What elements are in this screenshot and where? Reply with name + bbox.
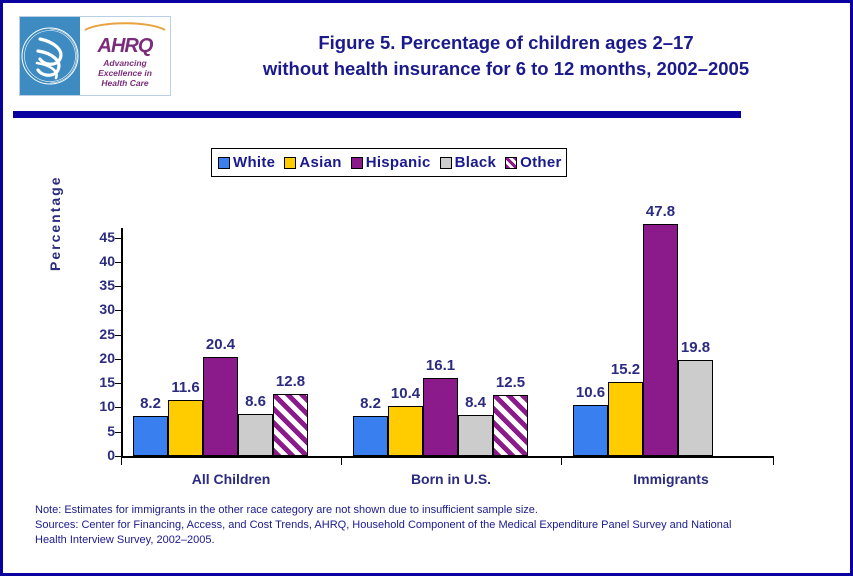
bar-asian-born-in-u-s[interactable] [388,406,423,456]
bar-black-immigrants[interactable] [678,360,713,456]
bar-series-container: 8.211.620.48.612.88.210.416.18.412.510.6… [121,228,773,456]
y-tick-label: 0 [75,447,115,463]
bar-value-label: 16.1 [414,357,467,374]
footnote-sources-line2: Health Interview Survey, 2002–2005. [35,533,825,548]
x-category-label-born-in-u-s: Born in U.S. [341,471,561,487]
y-tick-label: 5 [75,423,115,439]
bar-white-all-children[interactable] [133,416,168,456]
bar-white-immigrants[interactable] [573,405,608,456]
x-tick-mark [341,456,342,465]
chart-plot-area: Percentage 051015202530354045 8.211.620.… [3,3,853,579]
bar-black-all-children[interactable] [238,414,273,456]
figure-window: AHRQ Advancing Excellence in Health Care… [0,0,853,576]
x-axis-line [121,456,773,458]
footnote-note: Note: Estimates for immigrants in the ot… [35,503,825,518]
y-tick-label: 45 [75,229,115,245]
x-tick-mark [561,456,562,465]
bar-value-label: 12.8 [264,373,317,390]
y-tick-label: 30 [75,301,115,317]
bar-value-label: 20.4 [194,336,247,353]
y-tick-label: 20 [75,350,115,366]
bar-asian-all-children[interactable] [168,400,203,456]
bar-asian-immigrants[interactable] [608,382,643,456]
bar-black-born-in-u-s[interactable] [458,415,493,456]
bar-value-label: 47.8 [634,203,687,220]
x-tick-mark [773,456,774,465]
bar-value-label: 19.8 [669,339,722,356]
bar-hispanic-born-in-u-s[interactable] [423,378,458,456]
x-tick-mark [121,456,122,465]
footnote-sources-line1: Sources: Center for Financing, Access, a… [35,518,825,533]
y-tick-label: 10 [75,398,115,414]
bar-value-label: 12.5 [484,374,537,391]
y-tick-label: 40 [75,253,115,269]
y-tick-label: 15 [75,374,115,390]
bar-other-all-children[interactable] [273,394,308,456]
bar-white-born-in-u-s[interactable] [353,416,388,456]
y-tick-label: 25 [75,326,115,342]
figure-footnote: Note: Estimates for immigrants in the ot… [35,503,825,548]
x-category-label-all-children: All Children [121,471,341,487]
bar-other-born-in-u-s[interactable] [493,395,528,456]
y-tick-label: 35 [75,277,115,293]
y-axis-title: Percentage [47,131,63,271]
x-category-label-immigrants: Immigrants [561,471,781,487]
